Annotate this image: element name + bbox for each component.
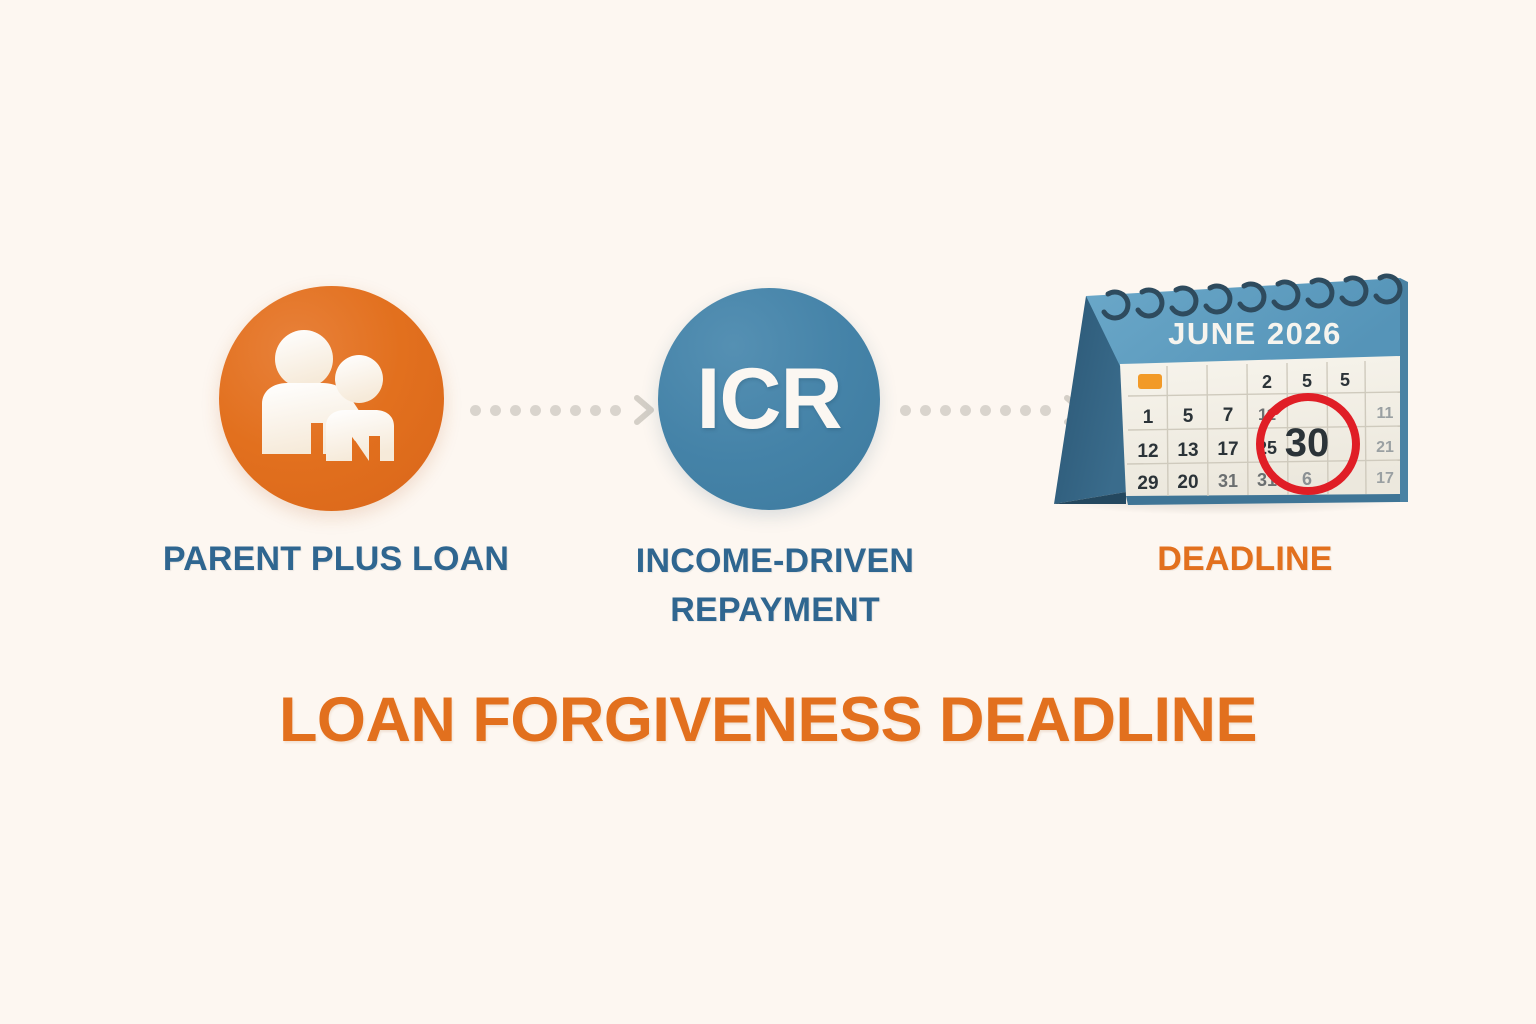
calendar-orange-marker	[1138, 374, 1162, 389]
chevron-right-icon	[634, 395, 656, 425]
arrow-dot	[510, 405, 521, 416]
headline-title: LOAN FORGIVENESS DEADLINE	[0, 684, 1536, 756]
arrow-dot	[920, 405, 931, 416]
step-label-line-2: REPAYMENT	[565, 586, 985, 635]
arrow-dot	[960, 405, 971, 416]
svg-text:5: 5	[1183, 406, 1194, 427]
svg-text:17: 17	[1376, 470, 1394, 487]
svg-text:17: 17	[1217, 439, 1238, 460]
arrow-1	[470, 390, 656, 430]
svg-text:2: 2	[1262, 372, 1272, 392]
icr-badge-text: ICR	[696, 356, 841, 442]
arrow-dot	[570, 405, 581, 416]
calendar-month-title: JUNE 2026	[1168, 316, 1342, 351]
infographic-canvas: ICR	[0, 0, 1536, 1024]
step-labels: PARENT PLUS LOAN INCOME-DRIVEN REPAYMENT…	[0, 535, 1536, 655]
svg-text:31: 31	[1218, 471, 1238, 491]
step-label-line-1: INCOME-DRIVEN	[565, 537, 985, 586]
svg-text:5: 5	[1340, 370, 1350, 390]
svg-text:1: 1	[1143, 407, 1154, 428]
svg-text:5: 5	[1302, 371, 1312, 391]
desk-calendar-icon: JUNE 2026 2	[1000, 256, 1430, 526]
svg-text:7: 7	[1223, 405, 1234, 426]
process-flow: ICR	[0, 268, 1536, 528]
arrow-dot	[470, 405, 481, 416]
step-icon-icr: ICR	[658, 288, 880, 510]
step-label-income-driven-repayment: INCOME-DRIVEN REPAYMENT	[565, 537, 985, 636]
arrow-dot	[490, 405, 501, 416]
arrow-dot	[940, 405, 951, 416]
svg-text:21: 21	[1376, 439, 1394, 456]
svg-text:13: 13	[1177, 440, 1198, 461]
step-label-parent-plus-loan: PARENT PLUS LOAN	[116, 535, 556, 584]
arrow-dot	[530, 405, 541, 416]
arrow-dot	[550, 405, 561, 416]
step-icon-parent-plus-loan	[219, 286, 444, 511]
svg-text:29: 29	[1137, 473, 1158, 494]
step-icon-deadline: JUNE 2026 2	[1000, 256, 1430, 526]
svg-text:11: 11	[1377, 405, 1394, 422]
svg-text:20: 20	[1177, 472, 1198, 493]
svg-text:6: 6	[1302, 469, 1312, 489]
arrow-dot	[900, 405, 911, 416]
step-label-deadline: DEADLINE	[1075, 535, 1415, 584]
calendar-right-edge	[1400, 278, 1408, 502]
calendar-highlighted-day: 30	[1285, 421, 1330, 465]
arrow-dot	[590, 405, 601, 416]
svg-text:12: 12	[1137, 441, 1158, 462]
arrow-dot	[980, 405, 991, 416]
two-people-icon	[219, 286, 444, 511]
arrow-dot	[610, 405, 621, 416]
